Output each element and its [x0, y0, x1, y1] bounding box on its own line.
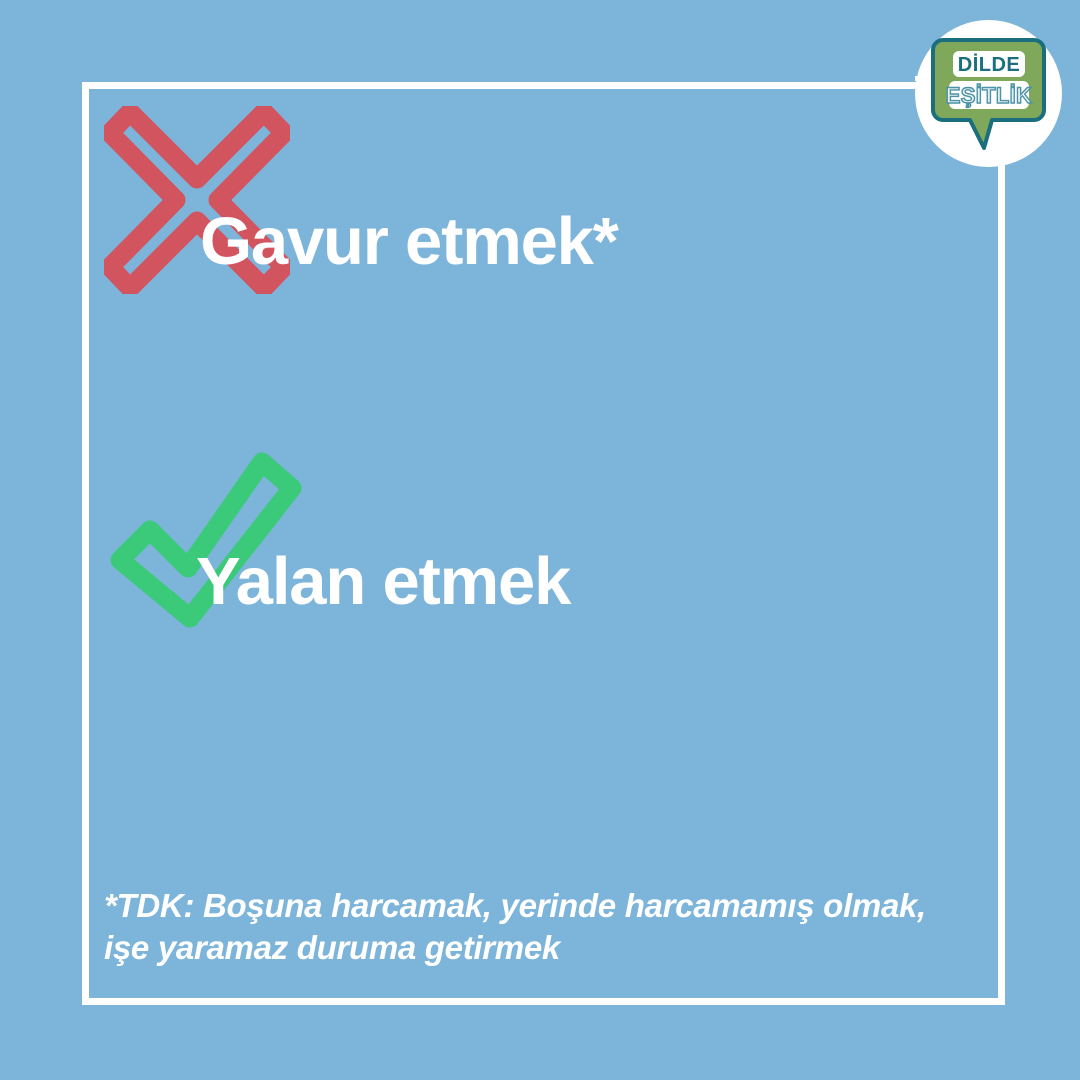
poster-canvas: DİLDE EŞİTLİK Gavur etmek* Yalan etmek *… [0, 0, 1080, 1080]
logo-text-dilde: DİLDE [958, 53, 1021, 76]
entry-label-correct: Yalan etmek [196, 548, 570, 615]
footnote-text: *TDK: Boşuna harcamak, yerinde harcamamı… [104, 885, 944, 969]
frame-border-top [82, 82, 925, 89]
entry-label-incorrect: Gavur etmek* [200, 208, 618, 275]
frame-border-right [998, 160, 1005, 1005]
logo-text-esitlik: EŞİTLİK [946, 83, 1032, 108]
frame-border-bottom [82, 998, 1005, 1005]
logo-speech-bubble-icon: DİLDE EŞİTLİK [915, 20, 1062, 167]
frame-border-left [82, 82, 89, 1005]
brand-logo: DİLDE EŞİTLİK [915, 20, 1062, 167]
